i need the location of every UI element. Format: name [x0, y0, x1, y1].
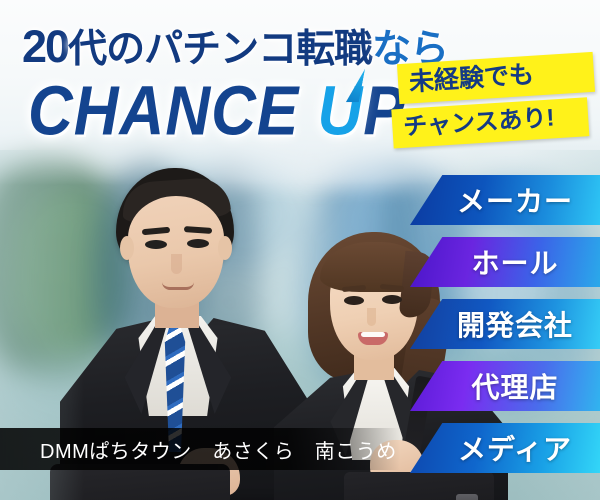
category-button-agency[interactable]: 代理店 [410, 361, 600, 411]
logo-chance-text: CHANCE [28, 73, 317, 150]
logo-u-letter: U [317, 72, 363, 152]
category-button-hall[interactable]: ホール [410, 237, 600, 287]
category-list: メーカー ホール 開発会社 代理店 メディア [410, 175, 600, 485]
caption-text: DMMぱちタウン あさくら 南こうめ [0, 435, 397, 464]
category-button-maker[interactable]: メーカー [410, 175, 600, 225]
category-label-developer: 開発会社 [457, 304, 573, 344]
headline-number: 20 [22, 21, 68, 72]
category-label-media: メディア [458, 428, 572, 468]
category-label-agency: 代理店 [471, 366, 558, 406]
headline: 20代のパチンコ転職なら [22, 18, 448, 74]
callout-badge: 未経験でも チャンスあり! [398, 58, 594, 137]
category-button-developer[interactable]: 開発会社 [410, 299, 600, 349]
caption-bar: DMMぱちタウン あさくら 南こうめ [0, 428, 400, 470]
headline-middle: 代のパチンコ転職 [68, 28, 372, 71]
category-label-hall: ホール [471, 242, 558, 282]
category-button-media[interactable]: メディア [410, 423, 600, 473]
callout-line-1: 未経験でも [397, 52, 595, 104]
advertisement-banner[interactable]: 20代のパチンコ転職なら CHANCE UP 未経験でも チャンスあり! メーカ… [0, 0, 600, 500]
category-label-maker: メーカー [457, 180, 573, 220]
chance-up-logo: CHANCE UP [28, 72, 406, 152]
